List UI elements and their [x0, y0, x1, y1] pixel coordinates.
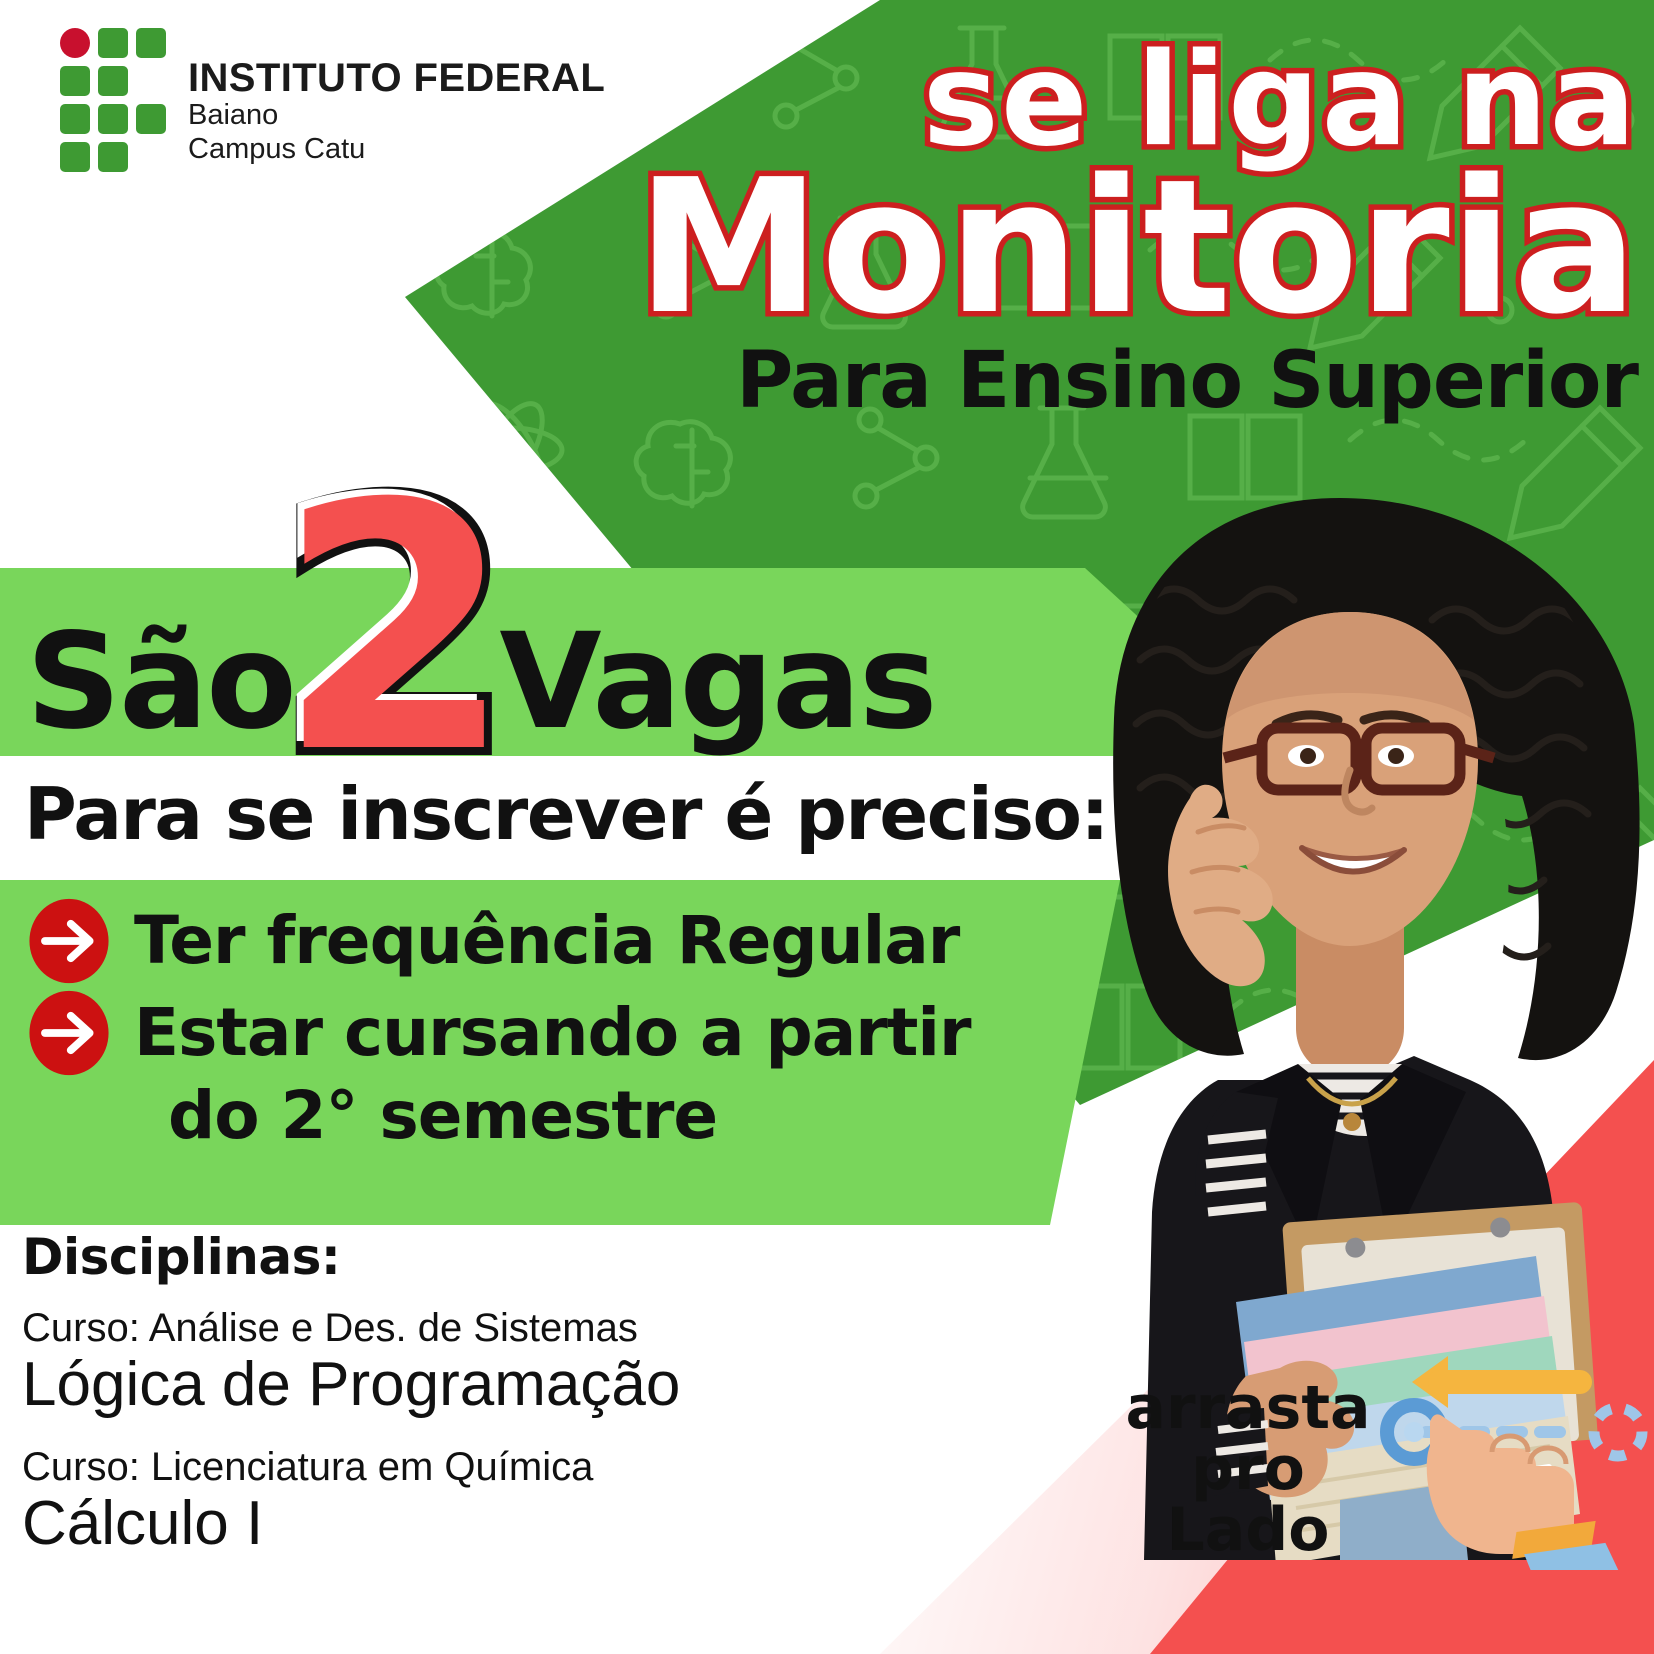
swipe-line-3: Lado [1098, 1500, 1398, 1561]
brand-campus: Campus Catu [188, 132, 605, 166]
brand-subtitle: Baiano [188, 98, 605, 132]
logo-wordmark: INSTITUTO FEDERAL Baiano Campus Catu [188, 28, 605, 166]
poster-canvas: INSTITUTO FEDERAL Baiano Campus Catu se … [0, 0, 1654, 1654]
arrow-left-icon [1412, 1356, 1580, 1408]
subjects-block: Disciplinas: Curso: Análise e Des. de Si… [22, 1228, 1022, 1558]
vacancies-prefix: São [26, 616, 295, 770]
requirement-text: Estar cursando a partir [134, 999, 971, 1068]
swipe-line-2: pro [1098, 1439, 1398, 1500]
logo-cell [98, 28, 128, 58]
logo-cell [60, 104, 90, 134]
logo-cell [98, 104, 128, 134]
arrow-right-circle-icon [26, 898, 112, 984]
requirement-item: Estar cursando a partir [26, 990, 1086, 1076]
subjects-title: Disciplinas: [22, 1228, 1022, 1286]
headline-block: se liga na Monitoria Para Ensino Superio… [600, 40, 1654, 420]
requirement-item: Ter frequência Regular [26, 898, 1086, 984]
institutional-logo: INSTITUTO FEDERAL Baiano Campus Catu [60, 28, 605, 172]
logo-cell [136, 28, 166, 58]
arrow-right-circle-icon [26, 990, 112, 1076]
logo-cell [98, 142, 128, 172]
logo-cell-dot [60, 28, 90, 58]
logo-cell [98, 66, 128, 96]
vacancies-suffix: Vagas [499, 616, 935, 770]
requirements-heading: Para se inscrever é preciso: [24, 772, 1108, 856]
course-label: Curso: Licenciatura em Química [22, 1445, 1022, 1489]
if-logo-grid [60, 28, 166, 172]
course-entry: Curso: Licenciatura em Química Cálculo I [22, 1445, 1022, 1558]
requirement-text: Ter frequência Regular [134, 907, 959, 976]
requirement-continuation: do 2° semestre [168, 1082, 1086, 1151]
requirements-list: Ter frequência Regular Estar cursando a … [26, 898, 1086, 1151]
logo-cell [60, 66, 90, 96]
headline-line-2: Monitoria [600, 159, 1638, 337]
course-label: Curso: Análise e Des. de Sistemas [22, 1306, 1022, 1350]
course-subject: Cálculo I [22, 1491, 1022, 1558]
vacancies-count: 2 [277, 491, 514, 770]
vacancies-block: São 2 Vagas [26, 470, 936, 770]
brand-name: INSTITUTO FEDERAL [188, 58, 605, 98]
swipe-line-1: arrasta [1098, 1378, 1398, 1439]
logo-cell [136, 104, 166, 134]
swipe-hand-gesture-icon [1370, 1340, 1650, 1570]
course-entry: Curso: Análise e Des. de Sistemas Lógica… [22, 1306, 1022, 1419]
swipe-call-to-action: arrasta pro Lado [1098, 1378, 1398, 1562]
course-subject: Lógica de Programação [22, 1352, 1022, 1419]
logo-cell-blank [136, 66, 166, 96]
logo-cell [60, 142, 90, 172]
logo-cell-blank [136, 142, 166, 172]
headline-subtitle: Para Ensino Superior [600, 342, 1638, 420]
